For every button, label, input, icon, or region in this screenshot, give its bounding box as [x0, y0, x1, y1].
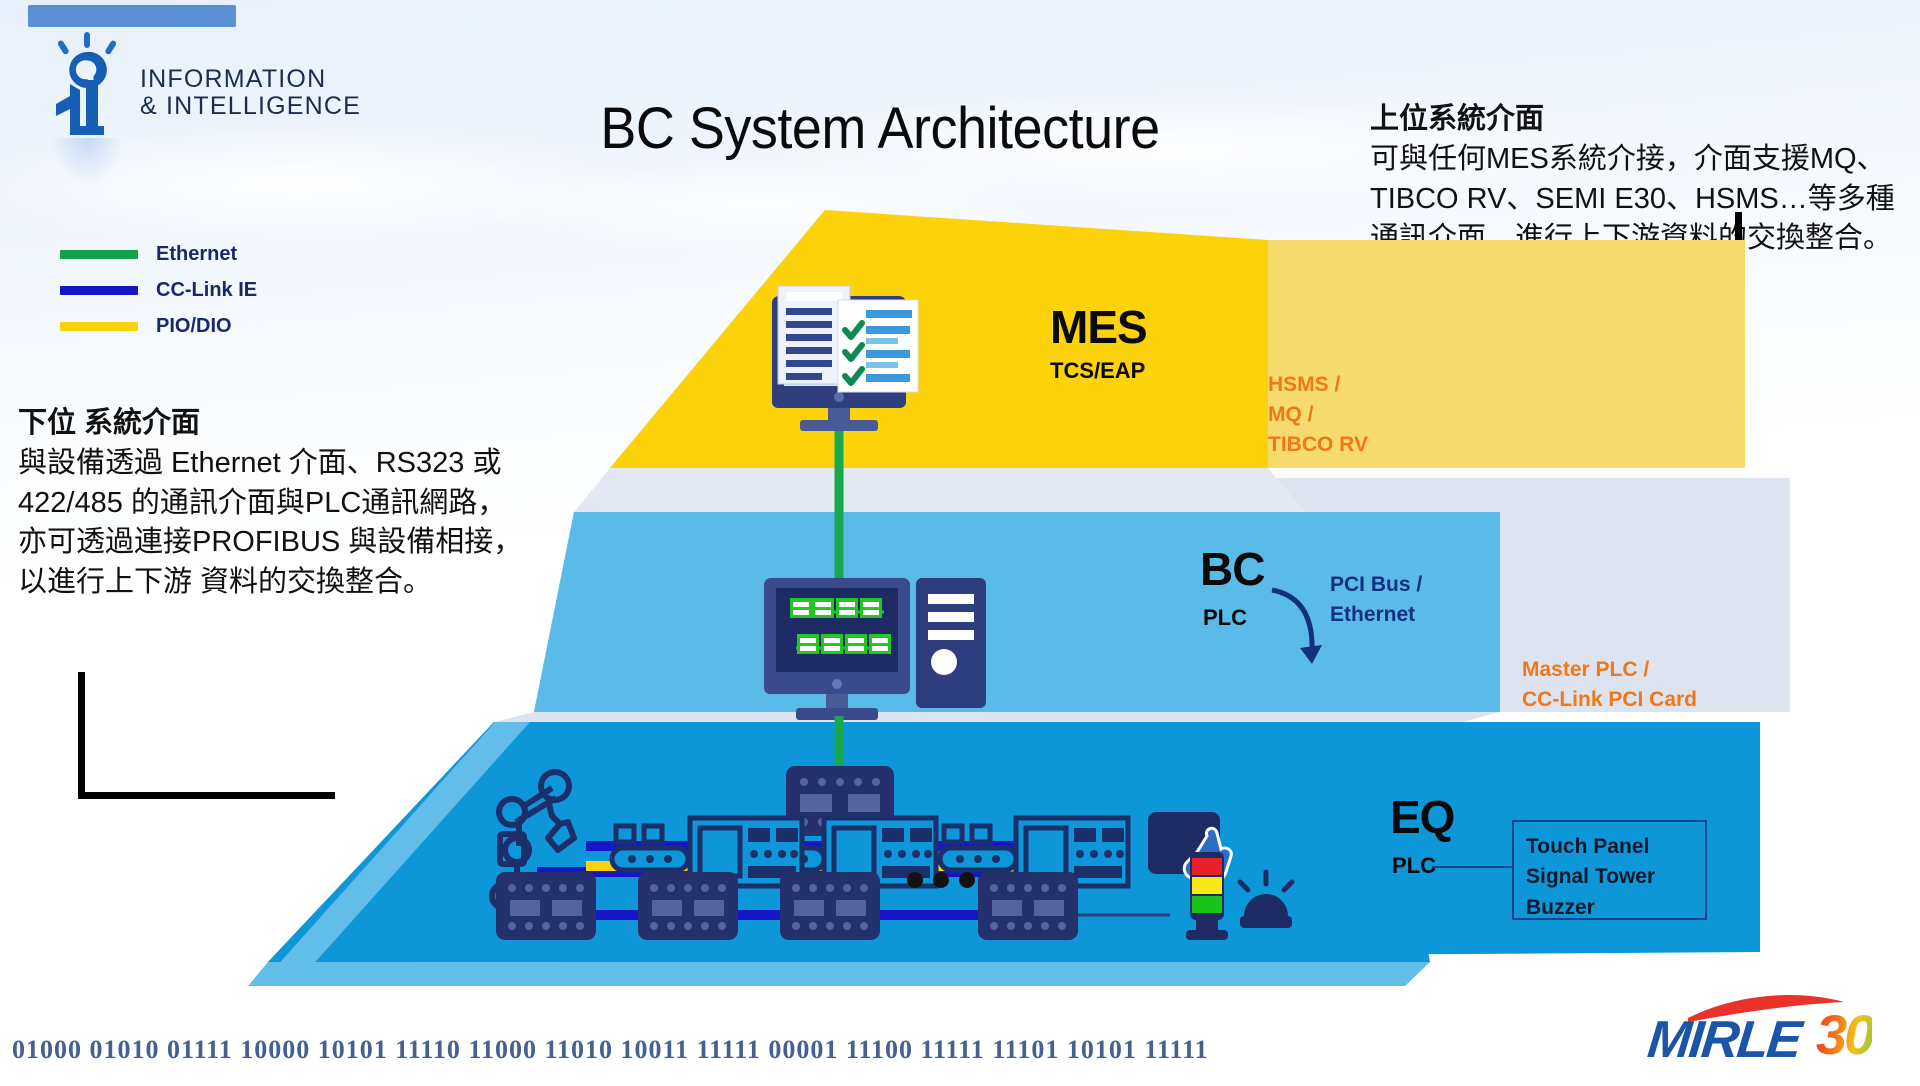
- bc-tier-sublabel: PLC: [1203, 605, 1247, 631]
- eq-base-bevel: [248, 962, 1430, 986]
- eq-tier-label: EQ: [1390, 790, 1454, 844]
- bc-bus-label: PCI Bus / Ethernet: [1330, 570, 1422, 630]
- mirle-wordmark: MIRLE: [1645, 1010, 1803, 1070]
- mes-tier-sublabel: TCS/EAP: [1050, 358, 1145, 384]
- eq-device-box: Touch Panel Signal Tower Buzzer: [1512, 820, 1707, 920]
- mirle-logo: MIRLE 30: [1648, 988, 1904, 1070]
- tier-separator-2: [494, 712, 1385, 722]
- ellipsis-dots: [907, 872, 975, 888]
- mes-protocol-label: HSMS / MQ / TIBCO RV: [1268, 370, 1368, 459]
- mirle-30-badge: 30: [1816, 1002, 1872, 1067]
- tier-separator-1: [574, 468, 1305, 512]
- eq-device-2: Signal Tower: [1526, 862, 1693, 892]
- bc-tier-label: BC: [1200, 542, 1264, 596]
- binary-footer-strip: 01000 01010 01111 10000 10101 11110 1100…: [12, 1035, 1642, 1065]
- mes-tier-label: MES: [1050, 300, 1147, 354]
- eq-device-1: Touch Panel: [1526, 832, 1693, 862]
- eq-device-connector: [1432, 866, 1514, 868]
- bc-protocol-label: Master PLC / CC-Link PCI Card: [1522, 655, 1697, 715]
- eq-device-3: Buzzer: [1526, 893, 1693, 923]
- slide-canvas: INFORMATION & INTELLIGENCE BC System Arc…: [0, 0, 1920, 1086]
- mes-tier-body: [610, 210, 1268, 468]
- eq-tier-sublabel: PLC: [1392, 853, 1436, 879]
